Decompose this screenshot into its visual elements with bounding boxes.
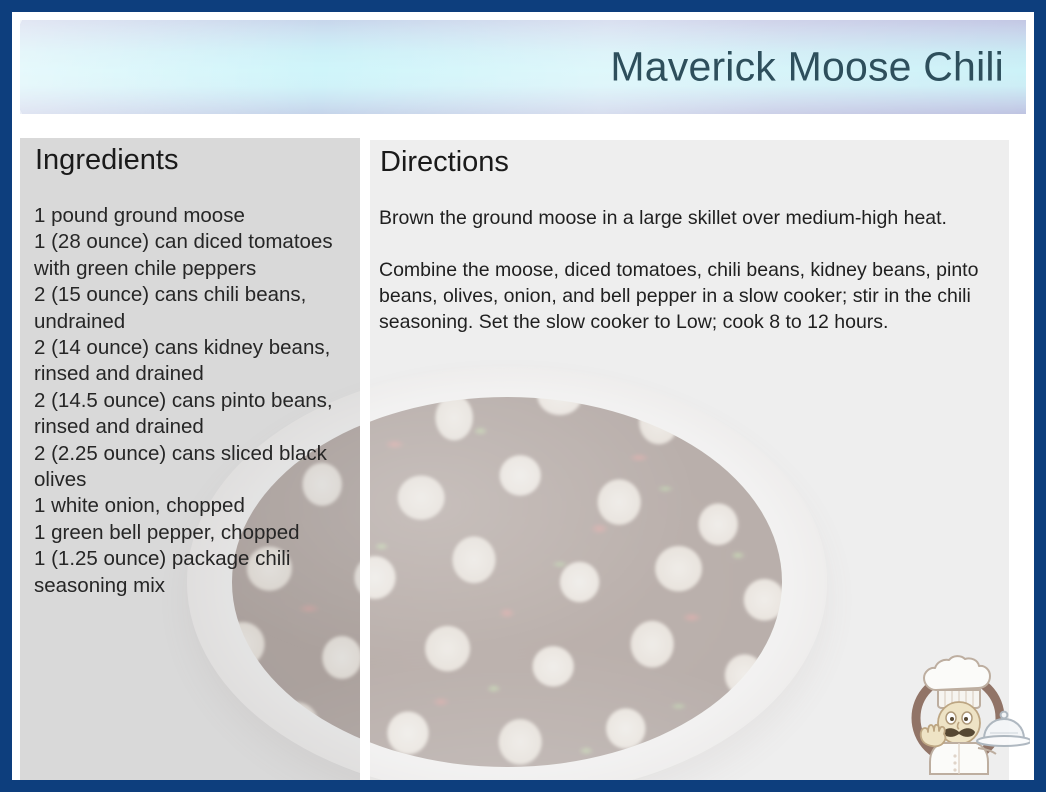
direction-step: Brown the ground moose in a large skille… [379, 205, 1017, 231]
panel-divider [360, 138, 370, 780]
ingredient-item: 2 (15 ounce) cans chili beans, undrained [34, 282, 354, 335]
page-title: Maverick Moose Chili [610, 47, 1004, 88]
ingredient-item: 1 green bell pepper, chopped [34, 520, 354, 546]
ingredient-item: 2 (2.25 ounce) cans sliced black olives [34, 441, 354, 494]
ingredient-item: 2 (14.5 ounce) cans pinto beans, rinsed … [34, 388, 354, 441]
header-banner: Maverick Moose Chili [20, 20, 1026, 114]
directions-text: Brown the ground moose in a large skille… [379, 205, 1017, 335]
direction-step: Combine the moose, diced tomatoes, chili… [379, 257, 1017, 335]
chef-logo [898, 646, 1030, 778]
chef-left-hand [921, 725, 946, 747]
recipe-card-frame: Maverick Moose Chili Ingredients Directi… [0, 0, 1046, 792]
ingredient-item: 1 (28 ounce) can diced tomatoes with gre… [34, 229, 354, 282]
ingredient-item: 1 white onion, chopped [34, 493, 354, 519]
ingredients-heading: Ingredients [20, 141, 217, 179]
serving-dome-icon [977, 712, 1030, 746]
ingredients-list: 1 pound ground moose1 (28 ounce) can dic… [34, 203, 354, 599]
chef-hat-icon [924, 656, 990, 708]
ingredient-item: 1 (1.25 ounce) package chili seasoning m… [34, 546, 354, 599]
ingredient-item: 1 pound ground moose [34, 203, 354, 229]
recipe-page: Maverick Moose Chili Ingredients Directi… [12, 12, 1034, 780]
ingredient-item: 2 (14 ounce) cans kidney beans, rinsed a… [34, 335, 354, 388]
directions-heading: Directions [370, 143, 540, 181]
